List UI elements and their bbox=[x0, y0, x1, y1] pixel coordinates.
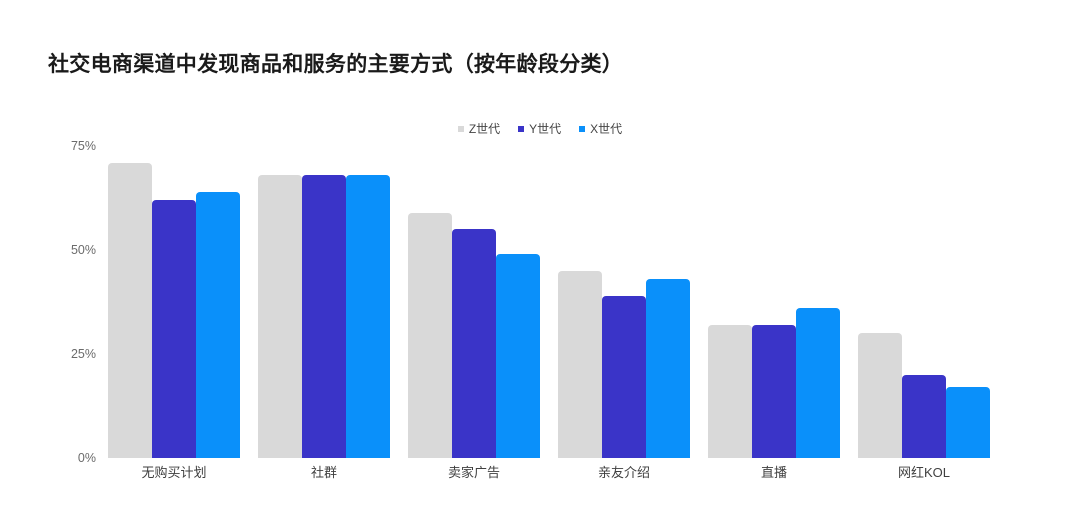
y-tick-label: 25% bbox=[0, 347, 96, 361]
chart-container: 社交电商渠道中发现商品和服务的主要方式（按年龄段分类） Z世代Y世代X世代 0%… bbox=[0, 0, 1080, 530]
bar[interactable] bbox=[902, 375, 946, 458]
legend-swatch-icon bbox=[579, 126, 585, 132]
bar[interactable] bbox=[196, 192, 240, 458]
legend-swatch-icon bbox=[518, 126, 524, 132]
chart-legend: Z世代Y世代X世代 bbox=[0, 120, 1080, 137]
bar-group bbox=[858, 146, 990, 458]
bar-group bbox=[708, 146, 840, 458]
x-tick-label: 无购买计划 bbox=[141, 462, 206, 481]
bar[interactable] bbox=[452, 229, 496, 458]
bar[interactable] bbox=[496, 254, 540, 458]
bar-group bbox=[558, 146, 690, 458]
bar[interactable] bbox=[796, 308, 840, 458]
x-tick-label: 卖家广告 bbox=[448, 462, 500, 481]
legend-item-3[interactable]: X世代 bbox=[579, 120, 622, 137]
y-axis: 0%25%50%75% bbox=[0, 140, 96, 470]
bar[interactable] bbox=[152, 200, 196, 458]
bar-group bbox=[408, 146, 540, 458]
legend-swatch-icon bbox=[458, 126, 464, 132]
bar[interactable] bbox=[602, 296, 646, 458]
x-axis: 无购买计划社群卖家广告亲友介绍直播网红KOL bbox=[104, 462, 1024, 492]
bar[interactable] bbox=[946, 387, 990, 458]
y-tick-label: 75% bbox=[0, 139, 96, 153]
x-tick-label: 直播 bbox=[761, 462, 787, 481]
legend-label: X世代 bbox=[590, 120, 622, 137]
bar[interactable] bbox=[752, 325, 796, 458]
page-title: 社交电商渠道中发现商品和服务的主要方式（按年龄段分类） bbox=[48, 48, 623, 78]
legend-label: Z世代 bbox=[469, 120, 500, 137]
legend-label: Y世代 bbox=[529, 120, 561, 137]
bar[interactable] bbox=[346, 175, 390, 458]
bar[interactable] bbox=[646, 279, 690, 458]
legend-item-1[interactable]: Z世代 bbox=[458, 120, 500, 137]
bar[interactable] bbox=[558, 271, 602, 458]
bar[interactable] bbox=[858, 333, 902, 458]
y-tick-label: 0% bbox=[0, 451, 96, 465]
plot-area bbox=[104, 146, 1024, 458]
bar[interactable] bbox=[302, 175, 346, 458]
x-tick-label: 亲友介绍 bbox=[598, 462, 650, 481]
bar[interactable] bbox=[408, 213, 452, 458]
bar[interactable] bbox=[708, 325, 752, 458]
bar[interactable] bbox=[258, 175, 302, 458]
x-tick-label: 网红KOL bbox=[898, 462, 950, 481]
x-tick-label: 社群 bbox=[311, 462, 337, 481]
bar-group bbox=[258, 146, 390, 458]
y-tick-label: 50% bbox=[0, 243, 96, 257]
bar-group bbox=[108, 146, 240, 458]
legend-item-2[interactable]: Y世代 bbox=[518, 120, 561, 137]
bar[interactable] bbox=[108, 163, 152, 458]
